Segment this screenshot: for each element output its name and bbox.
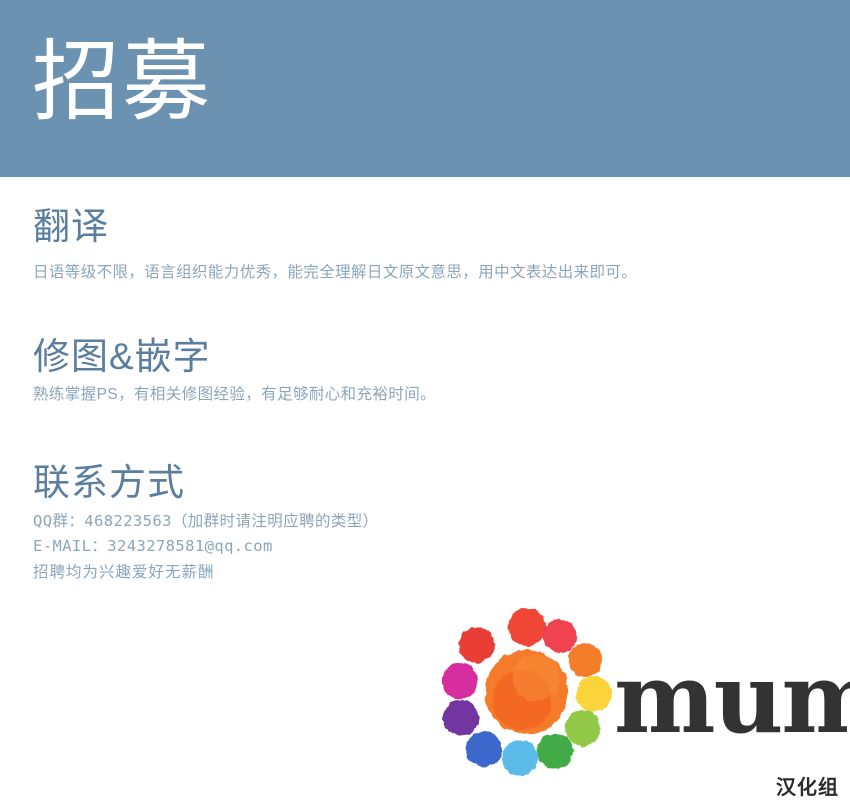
contact-note-line: 招聘均为兴趣爱好无薪酬 <box>33 560 833 586</box>
section-contact: 联系方式 QQ群：468223563（加群时请注明应聘的类型） E-MAIL：3… <box>33 462 833 585</box>
section-retouch: 修图&嵌字 熟练掌握PS，有相关修图经验，有足够耐心和充裕时间。 <box>33 336 833 407</box>
section-translate-body: 日语等级不限，语言组织能力优秀，能完全理解日文原文意思，用中文表达出来即可。 <box>33 261 833 285</box>
section-translate-heading: 翻译 <box>33 206 833 249</box>
section-translate: 翻译 日语等级不限，语言组织能力优秀，能完全理解日文原文意思，用中文表达出来即可… <box>33 206 833 285</box>
contact-qq-line: QQ群：468223563（加群时请注明应聘的类型） <box>33 509 833 535</box>
section-contact-heading: 联系方式 <box>33 462 833 505</box>
section-retouch-heading: 修图&嵌字 <box>33 336 833 379</box>
header-banner: 招募 <box>0 0 850 177</box>
brand-logo: mum 汉化组 <box>442 608 842 788</box>
logo-subtitle-text: 汉化组 <box>776 778 839 798</box>
contact-email-line: E-MAIL：3243278581@qq.com <box>33 534 833 560</box>
page-title: 招募 <box>32 38 212 126</box>
logo-wordmark-text: mum <box>614 654 850 744</box>
section-retouch-body: 熟练掌握PS，有相关修图经验，有足够耐心和充裕时间。 <box>33 383 833 407</box>
logo-center-blob <box>485 650 569 734</box>
color-wheel-icon <box>442 608 612 778</box>
logo-wordmark: mum 汉化组 <box>614 654 842 788</box>
